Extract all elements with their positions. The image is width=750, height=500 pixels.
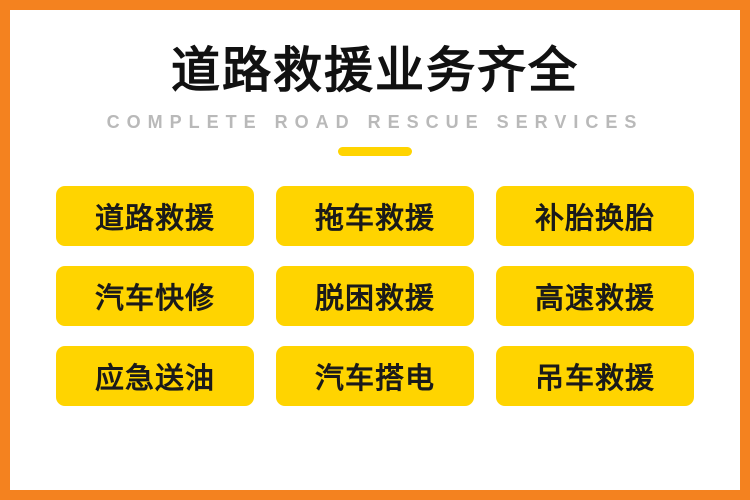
poster-container: 道路救援业务齐全 COMPLETE ROAD RESCUE SERVICES 道… xyxy=(0,0,750,500)
service-chip[interactable]: 脱困救援 xyxy=(276,266,474,326)
service-chip[interactable]: 高速救援 xyxy=(496,266,694,326)
service-chip[interactable]: 吊车救援 xyxy=(496,346,694,406)
service-chip[interactable]: 汽车快修 xyxy=(56,266,254,326)
service-grid: 道路救援 拖车救援 补胎换胎 汽车快修 脱困救援 高速救援 应急送油 汽车搭电 … xyxy=(56,186,694,406)
service-chip[interactable]: 补胎换胎 xyxy=(496,186,694,246)
accent-divider xyxy=(338,147,412,156)
page-title: 道路救援业务齐全 xyxy=(171,44,579,98)
service-chip[interactable]: 应急送油 xyxy=(56,346,254,406)
service-chip[interactable]: 汽车搭电 xyxy=(276,346,474,406)
service-chip[interactable]: 拖车救援 xyxy=(276,186,474,246)
service-chip[interactable]: 道路救援 xyxy=(56,186,254,246)
page-subtitle: COMPLETE ROAD RESCUE SERVICES xyxy=(107,112,644,133)
